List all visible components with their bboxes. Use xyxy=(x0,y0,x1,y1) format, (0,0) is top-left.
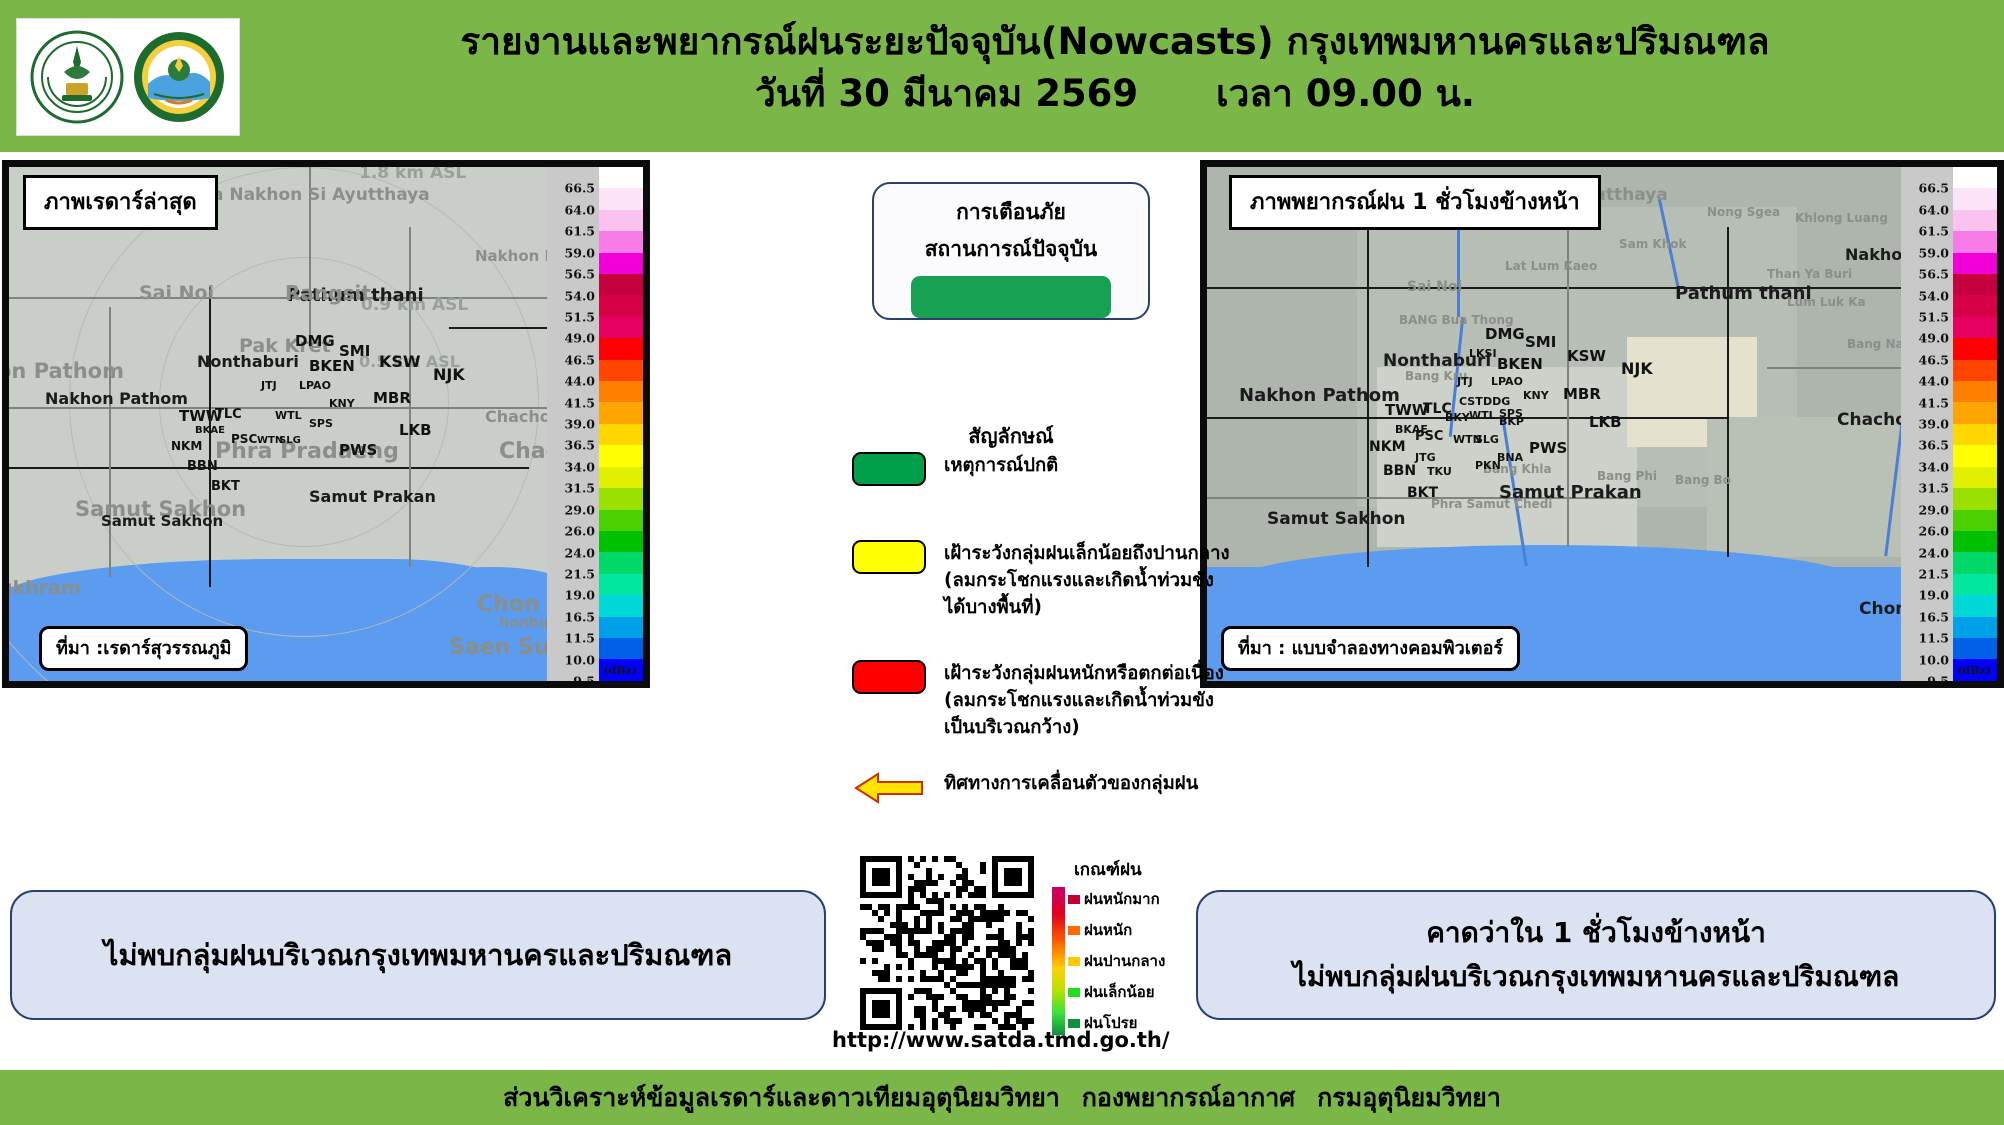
yellow-left-arrow-icon xyxy=(852,770,926,810)
current-summary-box: ไม่พบกลุ่มฝนบริเวณกรุงเทพมหานครและปริมณฑ… xyxy=(10,890,826,1020)
colorbar-band xyxy=(599,574,643,595)
colorbar-tick-label: 54.0 xyxy=(1919,288,1949,303)
colorbar-tick-label: 24.0 xyxy=(1919,545,1949,560)
forecast-map-panel[interactable]: Suphan Buri Phra Nakhon Si Ayutthaya Non… xyxy=(1200,160,2004,688)
colorbar-tick-label: 16.5 xyxy=(565,609,595,624)
colorbar-band xyxy=(599,274,643,295)
yellow-rectangle-swatch xyxy=(852,540,926,574)
colorbar-tick-label: 11.5 xyxy=(1919,631,1949,646)
rain-scale-label: ฝนหนักมาก xyxy=(1084,887,1160,911)
legend-item-line: ได้บางพื้นที่) xyxy=(944,594,1230,621)
legend-item-line: เฝ้าระวังกลุ่มฝนเล็กน้อยถึงปานกลาง xyxy=(944,540,1230,567)
rain-scale-item: ฝนโปรย xyxy=(1068,1011,1165,1035)
colorbar-band xyxy=(1953,638,1997,659)
forecast-map-source: ที่มา : แบบจำลองทางคอมพิวเตอร์ xyxy=(1221,626,1520,671)
legend-item-line: เหตุการณ์ปกติ xyxy=(944,452,1058,479)
colorbar-band xyxy=(599,253,643,274)
thai-meteorological-department-seal-icon xyxy=(130,28,228,126)
colorbar-band xyxy=(1953,338,1997,359)
colorbar-tick-label: 41.5 xyxy=(1919,395,1949,410)
colorbar-band xyxy=(599,445,643,466)
colorbar-tick-label: 26.0 xyxy=(565,524,595,539)
radar-colorbar: 66.564.061.559.056.554.051.549.046.544.0… xyxy=(547,167,643,681)
title-line-1: รายงานและพยากรณ์ฝนระยะปัจจุบัน(Nowcasts)… xyxy=(240,16,1990,68)
rain-scale-label: ฝนเล็กน้อย xyxy=(1084,980,1155,1004)
radar-colorbar-labels: 66.564.061.559.056.554.051.549.046.544.0… xyxy=(547,167,599,681)
colorbar-band xyxy=(599,167,643,188)
colorbar-tick-label: 29.0 xyxy=(1919,502,1949,517)
colorbar-tick-label: 24.0 xyxy=(565,545,595,560)
colorbar-band xyxy=(599,595,643,616)
forecast-summary-line-2: ไม่พบกลุ่มฝนบริเวณกรุงเทพมหานครและปริมณฑ… xyxy=(1293,955,1900,999)
colorbar-tick-label: 31.5 xyxy=(1919,481,1949,496)
colorbar-tick-label: 59.0 xyxy=(565,245,595,260)
legend-item-label: เหตุการณ์ปกติ xyxy=(944,452,1058,479)
legend-title: สัญลักษณ์ xyxy=(872,420,1150,452)
legend-item-label: ทิศทางการเคลื่อนตัวของกลุ่มฝน xyxy=(944,770,1198,797)
colorbar-band xyxy=(599,488,643,509)
colorbar-tick-label: 10.0 xyxy=(1919,652,1949,667)
colorbar-tick-label: 36.5 xyxy=(1919,438,1949,453)
colorbar-tick-label: 64.0 xyxy=(565,202,595,217)
rain-scale-label: ฝนหนัก xyxy=(1084,918,1132,942)
forecast-map-canvas: Suphan Buri Phra Nakhon Si Ayutthaya Non… xyxy=(1207,167,1997,681)
colorbar-tick-label: 26.0 xyxy=(1919,524,1949,539)
legend-item-line: เป็นบริเวณกว้าง) xyxy=(944,714,1224,741)
qr-code-icon[interactable] xyxy=(860,856,1036,1024)
radar-map-title: ภาพเรดาร์ล่าสุด xyxy=(23,175,218,230)
colorbar-band xyxy=(599,360,643,381)
colorbar-tick-label: 19.0 xyxy=(565,588,595,603)
colorbar-band xyxy=(1953,488,1997,509)
colorbar-band xyxy=(1953,595,1997,616)
report-time: เวลา 09.00 น. xyxy=(1216,72,1475,115)
colorbar-tick-label: 41.5 xyxy=(565,395,595,410)
colorbar-band xyxy=(599,295,643,316)
colorbar-tick-label: 31.5 xyxy=(565,481,595,496)
colorbar-band xyxy=(1953,231,1997,252)
radar-map-source: ที่มา :เรดาร์สุวรรณภูมิ xyxy=(39,626,248,671)
legend-item: ทิศทางการเคลื่อนตัวของกลุ่มฝน xyxy=(852,770,1198,810)
warning-status-indicator xyxy=(911,276,1111,318)
royal-rainmaking-seal-icon xyxy=(28,28,126,126)
rain-scale-label: ฝนปานกลาง xyxy=(1084,949,1165,973)
colorbar-tick-label: 21.5 xyxy=(1919,566,1949,581)
legend-item-line: ทิศทางการเคลื่อนตัวของกลุ่มฝน xyxy=(944,770,1198,797)
footer-text: ส่วนวิเคราะห์ข้อมูลเรดาร์และดาวเทียมอุตุ… xyxy=(503,1078,1501,1118)
colorbar-tick-label: 49.0 xyxy=(1919,331,1949,346)
colorbar-tick-label: 59.0 xyxy=(1919,245,1949,260)
colorbar-band xyxy=(599,188,643,209)
colorbar-band xyxy=(599,381,643,402)
forecast-colorbar-strip xyxy=(1953,167,1997,681)
colorbar-tick-label: 39.0 xyxy=(565,417,595,432)
red-rectangle-swatch xyxy=(852,660,926,694)
colorbar-tick-label: 34.0 xyxy=(1919,459,1949,474)
colorbar-band xyxy=(1953,424,1997,445)
colorbar-band xyxy=(599,231,643,252)
radar-map-panel[interactable]: 1.8 km ASL 0.9 km ASL 0.5 km ASL Suphan … xyxy=(2,160,650,688)
colorbar-band xyxy=(1953,210,1997,231)
colorbar-band xyxy=(599,402,643,423)
legend-item: เฝ้าระวังกลุ่มฝนเล็กน้อยถึงปานกลาง(ลมกระ… xyxy=(852,540,1230,621)
legend-item-line: เฝ้าระวังกลุ่มฝนหนักหรือตกต่อเนื่อง xyxy=(944,660,1224,687)
legend-item: เฝ้าระวังกลุ่มฝนหนักหรือตกต่อเนื่อง(ลมกร… xyxy=(852,660,1224,741)
colorbar-band xyxy=(1953,381,1997,402)
footer-part-1: ส่วนวิเคราะห์ข้อมูลเรดาร์และดาวเทียมอุตุ… xyxy=(503,1083,1060,1112)
rain-scale-swatch xyxy=(1068,988,1080,997)
colorbar-tick-label: 29.0 xyxy=(565,502,595,517)
radar-colorbar-strip xyxy=(599,167,643,681)
page-title: รายงานและพยากรณ์ฝนระยะปัจจุบัน(Nowcasts)… xyxy=(240,16,1990,120)
colorbar-band xyxy=(599,210,643,231)
colorbar-band xyxy=(599,617,643,638)
colorbar-tick-label: 56.5 xyxy=(1919,267,1949,282)
colorbar-tick-label: 16.5 xyxy=(1919,609,1949,624)
forecast-colorbar: 66.564.061.559.056.554.051.549.046.544.0… xyxy=(1901,167,1997,681)
legend-item-line: (ลมกระโชกแรงและเกิดน้ำท่วมขัง xyxy=(944,567,1230,594)
colorbar-band xyxy=(599,638,643,659)
title-line-2: วันที่ 30 มีนาคม 2569 เวลา 09.00 น. xyxy=(240,68,1990,120)
colorbar-tick-label: 56.5 xyxy=(565,267,595,282)
footer-part-2: กองพยากรณ์อากาศ xyxy=(1082,1083,1295,1112)
report-date: วันที่ 30 มีนาคม 2569 xyxy=(755,72,1138,115)
colorbar-tick-label: 44.0 xyxy=(565,374,595,389)
logo-container xyxy=(16,18,240,136)
colorbar-band xyxy=(1953,274,1997,295)
colorbar-band xyxy=(599,424,643,445)
colorbar-tick-label: 9.5 xyxy=(573,674,595,689)
colorbar-tick-label: 9.5 xyxy=(1927,674,1949,689)
colorbar-band xyxy=(1953,531,1997,552)
colorbar-band xyxy=(599,467,643,488)
colorbar-band xyxy=(1953,167,1997,188)
colorbar-band xyxy=(1953,467,1997,488)
colorbar-band xyxy=(599,338,643,359)
current-warning-card: การเตือนภัย สถานการณ์ปัจจุบัน xyxy=(872,182,1150,320)
rain-scale-label: ฝนโปรย xyxy=(1084,1011,1137,1035)
rain-scale-swatch xyxy=(1068,957,1080,966)
colorbar-band xyxy=(599,317,643,338)
colorbar-band xyxy=(1953,402,1997,423)
colorbar-tick-label: 34.0 xyxy=(565,459,595,474)
colorbar-tick-label: 61.5 xyxy=(1919,224,1949,239)
rain-scale-item: ฝนหนัก xyxy=(1068,918,1165,942)
colorbar-tick-label: 19.0 xyxy=(1919,588,1949,603)
colorbar-band xyxy=(1953,295,1997,316)
rain-scale-item: ฝนหนักมาก xyxy=(1068,887,1165,911)
rain-scale-item: ฝนปานกลาง xyxy=(1068,949,1165,973)
colorbar-tick-label: 11.5 xyxy=(565,631,595,646)
forecast-summary-box: คาดว่าใน 1 ชั่วโมงข้างหน้า ไม่พบกลุ่มฝนบ… xyxy=(1196,890,1996,1020)
legend-item: เหตุการณ์ปกติ xyxy=(852,452,1058,486)
colorbar-tick-label: 51.5 xyxy=(1919,309,1949,324)
colorbar-tick-label: 44.0 xyxy=(1919,374,1949,389)
colorbar-band xyxy=(1953,445,1997,466)
colorbar-tick-label: 66.5 xyxy=(1919,181,1949,196)
warning-card-title-1: การเตือนภัย xyxy=(956,196,1066,229)
colorbar-band xyxy=(1953,552,1997,573)
colorbar-tick-label: 36.5 xyxy=(565,438,595,453)
footer-part-3: กรมอุตุนิยมวิทยา xyxy=(1317,1083,1501,1112)
rain-scale-swatch xyxy=(1068,895,1080,904)
page-header: รายงานและพยากรณ์ฝนระยะปัจจุบัน(Nowcasts)… xyxy=(0,0,2004,152)
colorbar-band xyxy=(1953,510,1997,531)
legend-item-line: (ลมกระโชกแรงและเกิดน้ำท่วมขัง xyxy=(944,687,1224,714)
page-footer: ส่วนวิเคราะห์ข้อมูลเรดาร์และดาวเทียมอุตุ… xyxy=(0,1070,2004,1125)
colorbar-tick-label: 51.5 xyxy=(565,309,595,324)
warning-card-title-2: สถานการณ์ปัจจุบัน xyxy=(925,233,1098,266)
colorbar-band xyxy=(599,531,643,552)
forecast-map-title: ภาพพยากรณ์ฝน 1 ชั่วโมงข้างหน้า xyxy=(1229,175,1601,230)
colorbar-tick-label: 10.0 xyxy=(565,652,595,667)
legend-item-label: เฝ้าระวังกลุ่มฝนหนักหรือตกต่อเนื่อง(ลมกร… xyxy=(944,660,1224,741)
forecast-colorbar-labels: 66.564.061.559.056.554.051.549.046.544.0… xyxy=(1901,167,1953,681)
colorbar-tick-label: 54.0 xyxy=(565,288,595,303)
rain-scale-swatch xyxy=(1068,1019,1080,1028)
colorbar-tick-label: 49.0 xyxy=(565,331,595,346)
rain-scale-swatch xyxy=(1068,926,1080,935)
colorbar-tick-label: 61.5 xyxy=(565,224,595,239)
colorbar-band xyxy=(1953,253,1997,274)
colorbar-tick-label: 64.0 xyxy=(1919,202,1949,217)
colorbar-tick-label: 66.5 xyxy=(565,181,595,196)
legend-item-label: เฝ้าระวังกลุ่มฝนเล็กน้อยถึงปานกลาง(ลมกระ… xyxy=(944,540,1230,621)
rain-intensity-scale: เกณฑ์ฝน ฝนหนักมากฝนหนักฝนปานกลางฝนเล็กน้… xyxy=(1052,856,1202,1035)
colorbar-band xyxy=(1953,617,1997,638)
colorbar-band xyxy=(1953,574,1997,595)
colorbar-band xyxy=(1953,188,1997,209)
colorbar-band xyxy=(599,510,643,531)
rain-scale-gradient xyxy=(1052,887,1065,1035)
colorbar-tick-label: 21.5 xyxy=(565,566,595,581)
current-summary-text: ไม่พบกลุ่มฝนบริเวณกรุงเทพมหานครและปริมณฑ… xyxy=(104,932,732,978)
colorbar-tick-label: 46.5 xyxy=(1919,352,1949,367)
rain-scale-item: ฝนเล็กน้อย xyxy=(1068,980,1165,1004)
colorbar-band xyxy=(599,552,643,573)
colorbar-band xyxy=(1953,317,1997,338)
colorbar-band xyxy=(1953,360,1997,381)
rain-scale-items: ฝนหนักมากฝนหนักฝนปานกลางฝนเล็กน้อยฝนโปรย xyxy=(1068,887,1165,1035)
colorbar-tick-label: 39.0 xyxy=(1919,417,1949,432)
rain-scale-title: เกณฑ์ฝน xyxy=(1074,856,1202,883)
forecast-summary-line-1: คาดว่าใน 1 ชั่วโมงข้างหน้า xyxy=(1426,911,1766,955)
forecast-colorbar-unit: (dBz) xyxy=(1957,664,1991,677)
radar-colorbar-unit: (dBz) xyxy=(603,664,637,677)
green-rectangle-swatch xyxy=(852,452,926,486)
colorbar-tick-label: 46.5 xyxy=(565,352,595,367)
